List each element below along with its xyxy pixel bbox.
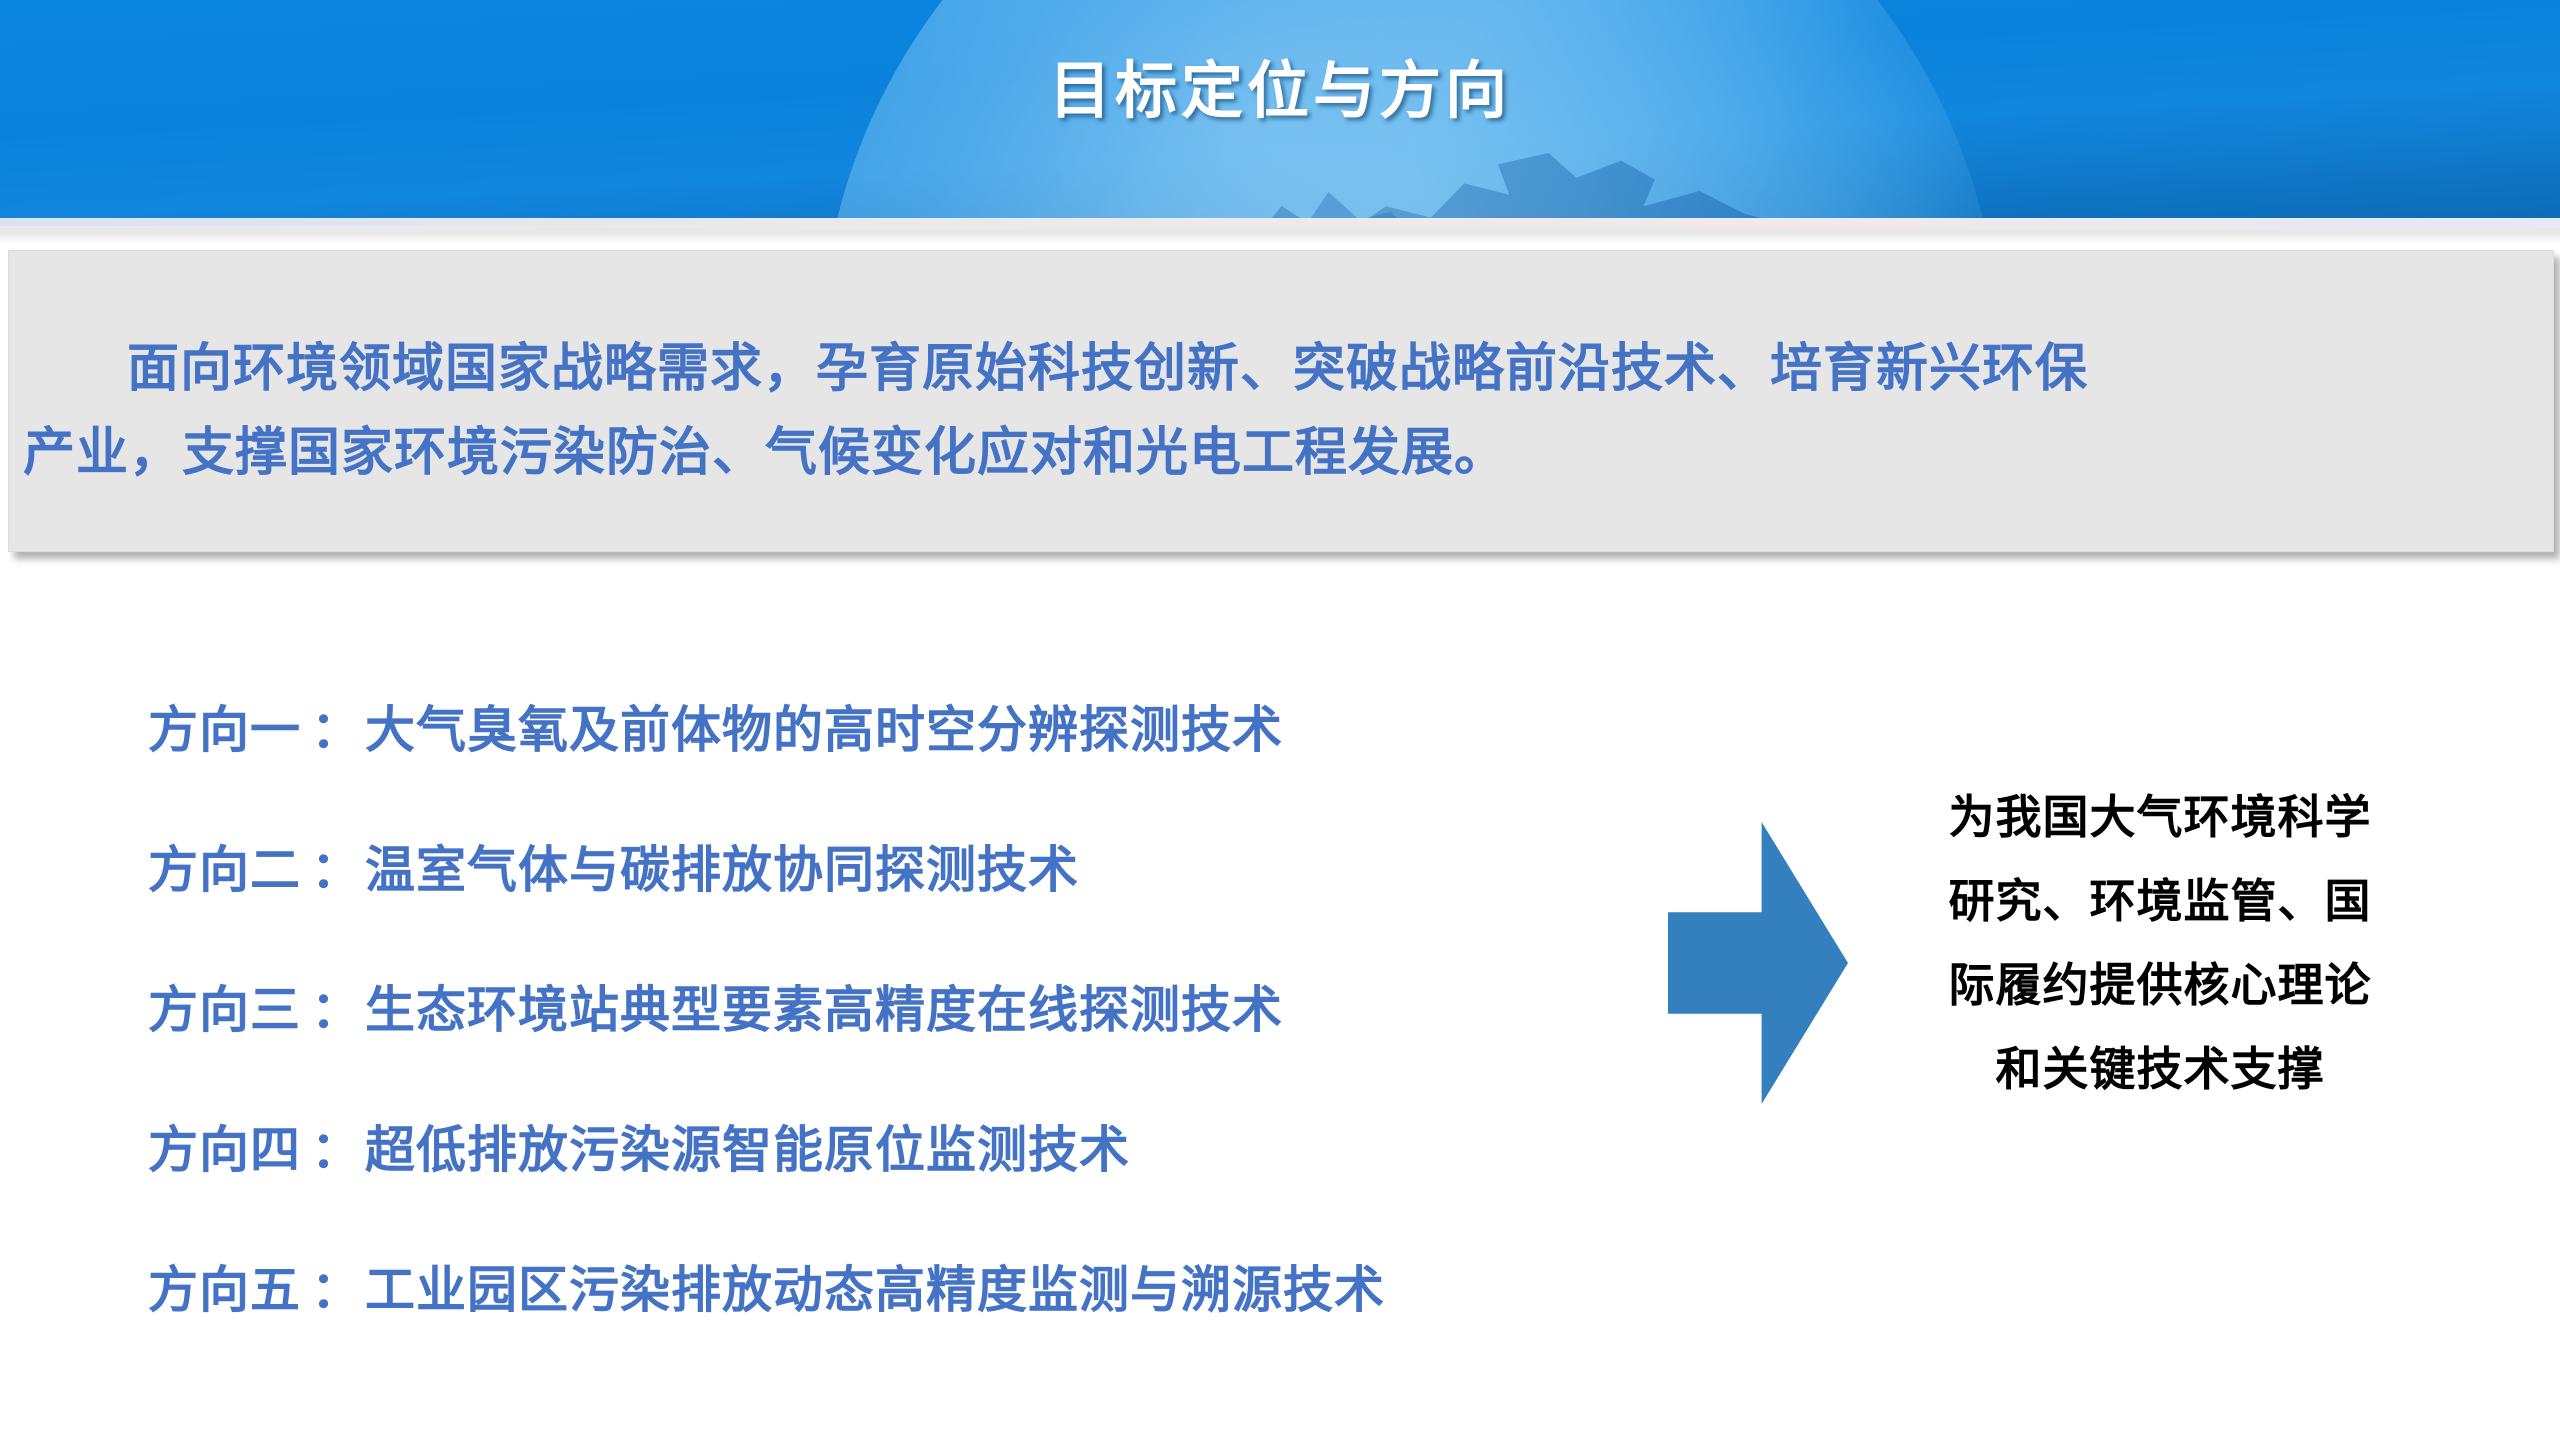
outcome-line-4: 和关键技术支撑 [1900, 1027, 2420, 1111]
list-item[interactable]: 方向五 ： 工业园区污染排放动态高精度监测与溯源技术 [148, 1250, 1668, 1390]
direction-text-1: 大气臭氧及前体物的高时空分辨探测技术 [365, 690, 1283, 762]
outcome-line-3: 际履约提供核心理论 [1900, 943, 2420, 1027]
direction-list: 方向一 ： 大气臭氧及前体物的高时空分辨探测技术 方向二 ： 温室气体与碳排放协… [148, 690, 1668, 1390]
list-item[interactable]: 方向一 ： 大气臭氧及前体物的高时空分辨探测技术 [148, 690, 1668, 830]
mission-statement-text: 面向环境领域国家战略需求，孕育原始科技创新、突破战略前沿技术、培育新兴环保 产业… [23, 327, 2523, 495]
direction-text-2: 温室气体与碳排放协同探测技术 [365, 830, 1079, 902]
direction-separator-2: ： [301, 830, 365, 902]
direction-separator-4: ： [301, 1110, 365, 1182]
direction-label-4: 方向四 [148, 1110, 301, 1182]
slide-header-banner: 目标定位与方向 [0, 0, 2560, 218]
mission-statement-panel: 面向环境领域国家战略需求，孕育原始科技创新、突破战略前沿技术、培育新兴环保 产业… [8, 250, 2554, 552]
outcome-statement: 为我国大气环境科学 研究、环境监管、国 际履约提供核心理论 和关键技术支撑 [1900, 775, 2420, 1111]
direction-label-5: 方向五 [148, 1250, 301, 1322]
direction-label-3: 方向三 [148, 970, 301, 1042]
outcome-line-1: 为我国大气环境科学 [1900, 775, 2420, 859]
list-item[interactable]: 方向三 ： 生态环境站典型要素高精度在线探测技术 [148, 970, 1668, 1110]
direction-separator-3: ： [301, 970, 365, 1042]
mission-statement-line-2: 产业，支撑国家环境污染防治、气候变化应对和光电工程发展。 [23, 411, 2523, 495]
mission-statement-line-1: 面向环境领域国家战略需求，孕育原始科技创新、突破战略前沿技术、培育新兴环保 [23, 327, 2523, 411]
direction-text-4: 超低排放污染源智能原位监测技术 [365, 1110, 1130, 1182]
right-arrow-icon [1668, 822, 1848, 1104]
direction-label-1: 方向一 [148, 690, 301, 762]
direction-separator-5: ： [301, 1250, 365, 1322]
banner-divider-tint [0, 218, 2560, 226]
page-title: 目标定位与方向 [0, 40, 2560, 130]
banner-divider-strip [0, 218, 2560, 244]
list-item[interactable]: 方向四 ： 超低排放污染源智能原位监测技术 [148, 1110, 1668, 1250]
direction-separator-1: ： [301, 690, 365, 762]
direction-text-3: 生态环境站典型要素高精度在线探测技术 [365, 970, 1283, 1042]
list-item[interactable]: 方向二 ： 温室气体与碳排放协同探测技术 [148, 830, 1668, 970]
outcome-line-2: 研究、环境监管、国 [1900, 859, 2420, 943]
direction-text-5: 工业园区污染排放动态高精度监测与溯源技术 [365, 1250, 1385, 1322]
direction-label-2: 方向二 [148, 830, 301, 902]
